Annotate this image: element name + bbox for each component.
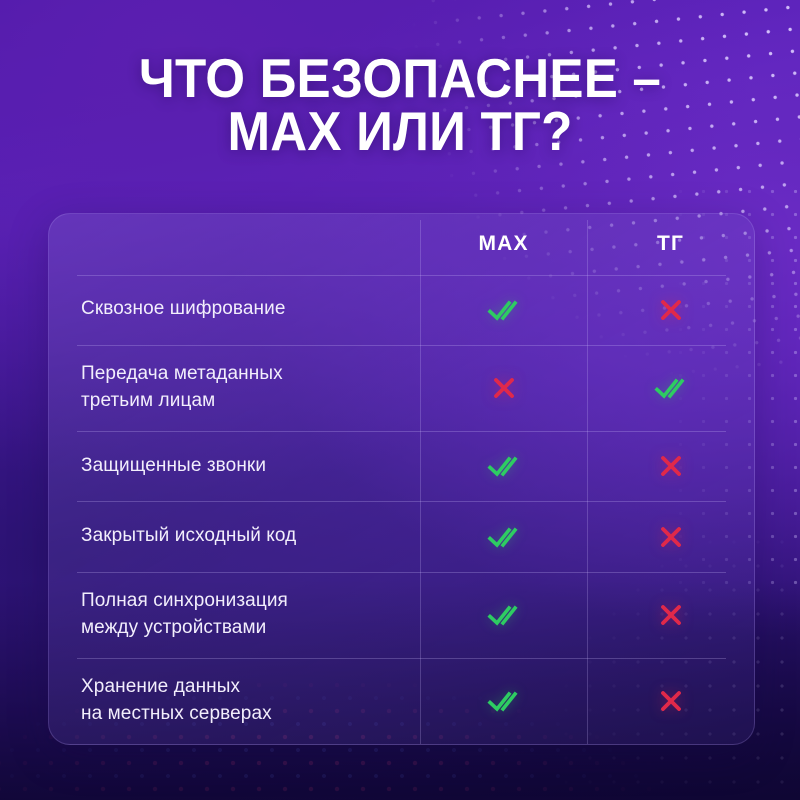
- row-tg-cell: [587, 658, 754, 744]
- double-check-icon: [487, 602, 521, 628]
- table-row: Полная синхронизация между устройствами: [49, 572, 754, 658]
- row-tg-cell: [587, 345, 754, 431]
- row-feature-cell: Сквозное шифрование: [49, 275, 420, 345]
- cross-icon: [658, 688, 684, 714]
- row-feature-label: Полная синхронизация между устройствами: [81, 588, 288, 642]
- header-label-tg: ТГ: [657, 232, 684, 256]
- row-max-cell: [420, 658, 587, 744]
- row-max-cell: [420, 345, 587, 431]
- row-feature-label: Хранение данных на местных серверах: [81, 674, 272, 728]
- row-max-cell: [420, 572, 587, 658]
- double-check-icon: [487, 453, 521, 479]
- row-feature-cell: Передача метаданных третьим лицам: [49, 345, 420, 431]
- row-feature-label: Закрытый исходный код: [81, 523, 296, 550]
- double-check-icon: [487, 688, 521, 714]
- row-feature-label: Защищенные звонки: [81, 453, 266, 480]
- row-tg-cell: [587, 572, 754, 658]
- table-row: Хранение данных на местных серверах: [49, 658, 754, 744]
- comparison-table-card: MAX ТГ Сквозное шифрование: [48, 213, 755, 745]
- header-cell-feature: [49, 214, 420, 275]
- cross-icon: [658, 524, 684, 550]
- header-cell-tg: ТГ: [587, 214, 754, 275]
- row-feature-cell: Полная синхронизация между устройствами: [49, 572, 420, 658]
- row-feature-label: Передача метаданных третьим лицам: [81, 361, 283, 415]
- cross-icon: [658, 297, 684, 323]
- table-row: Закрытый исходный код: [49, 501, 754, 571]
- table-row: Передача метаданных третьим лицам: [49, 345, 754, 431]
- page-title: ЧТО БЕЗОПАСНЕЕ – MAX ИЛИ ТГ?: [28, 52, 772, 159]
- double-check-icon: [487, 297, 521, 323]
- table-row: Сквозное шифрование: [49, 275, 754, 345]
- double-check-icon: [654, 375, 688, 401]
- infographic-page: ЧТО БЕЗОПАСНЕЕ – MAX ИЛИ ТГ? MAX ТГ Скво…: [0, 0, 800, 800]
- row-feature-cell: Хранение данных на местных серверах: [49, 658, 420, 744]
- header-cell-max: MAX: [420, 214, 587, 275]
- header-label-max: MAX: [478, 232, 528, 256]
- row-max-cell: [420, 501, 587, 571]
- cross-icon: [658, 453, 684, 479]
- cross-icon: [658, 602, 684, 628]
- table-row: Защищенные звонки: [49, 431, 754, 501]
- row-tg-cell: [587, 501, 754, 571]
- row-feature-label: Сквозное шифрование: [81, 296, 286, 323]
- double-check-icon: [487, 524, 521, 550]
- row-tg-cell: [587, 431, 754, 501]
- row-feature-cell: Закрытый исходный код: [49, 501, 420, 571]
- row-feature-cell: Защищенные звонки: [49, 431, 420, 501]
- cross-icon: [491, 375, 517, 401]
- row-tg-cell: [587, 275, 754, 345]
- table-header-row: MAX ТГ: [49, 214, 754, 275]
- row-max-cell: [420, 431, 587, 501]
- row-max-cell: [420, 275, 587, 345]
